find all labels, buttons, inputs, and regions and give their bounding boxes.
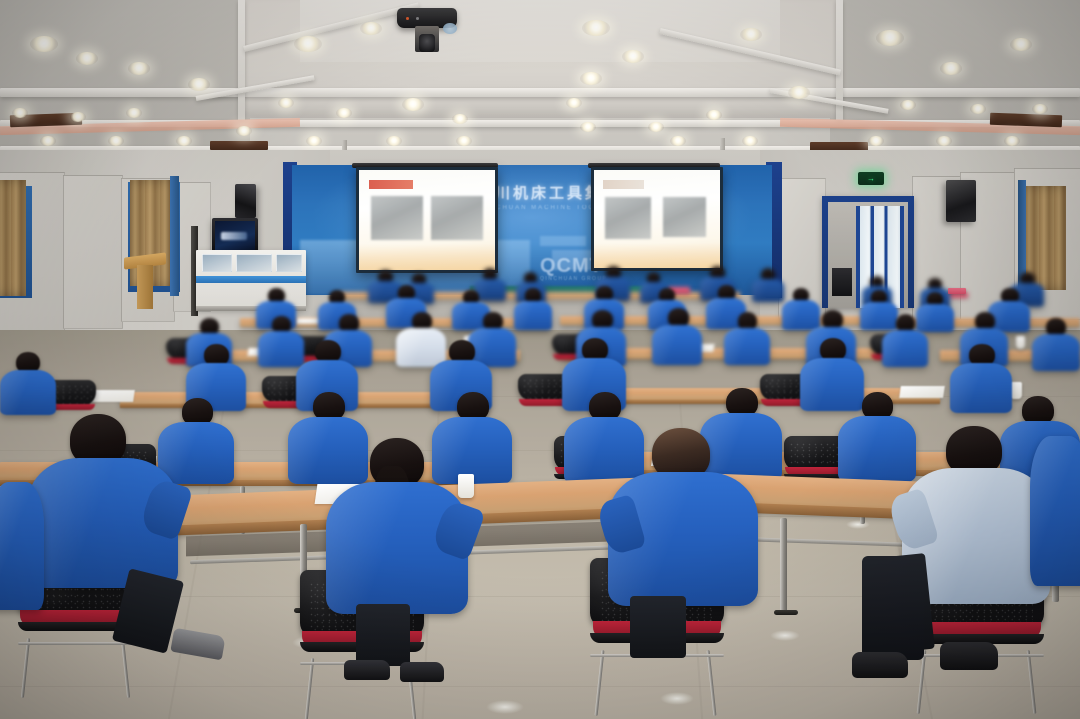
recessed-downlight [582, 20, 610, 36]
recessed-downlight [294, 36, 322, 52]
recessed-downlight [360, 22, 382, 35]
recessed-downlight [580, 122, 596, 132]
attendee-front-right-shirt [902, 426, 1050, 630]
attendee [0, 352, 56, 414]
recessed-downlight [868, 136, 884, 146]
recessed-downlight [936, 136, 952, 146]
slide-header-bar [603, 180, 645, 189]
ceiling-wood-panel [210, 141, 268, 150]
recessed-downlight [12, 108, 28, 118]
recessed-downlight [970, 104, 986, 114]
slide-photo [605, 197, 650, 238]
recessed-downlight [622, 50, 644, 63]
attendee-leg [862, 556, 924, 660]
slide-photo [431, 196, 483, 240]
slide-glow [359, 244, 495, 270]
window-frame [170, 176, 179, 296]
recessed-downlight [876, 30, 904, 46]
recessed-downlight [740, 28, 762, 41]
recessed-downlight [30, 36, 58, 52]
slide-glow [594, 243, 720, 268]
recessed-downlight [900, 100, 916, 110]
floor-tile-line [0, 686, 1080, 687]
recessed-downlight [706, 110, 722, 120]
recessed-downlight [670, 136, 686, 146]
recessed-downlight [402, 98, 424, 111]
ceiling-beam [0, 88, 1080, 97]
floor-reflection [770, 630, 800, 641]
recessed-downlight [788, 86, 810, 99]
desk-foot [774, 610, 798, 615]
recessed-downlight [306, 136, 322, 146]
wooden-lectern [128, 255, 162, 307]
attendee [724, 312, 770, 364]
recessed-downlight [386, 136, 402, 146]
recessed-downlight [580, 72, 602, 85]
left-projection-screen[interactable] [356, 167, 498, 273]
recessed-downlight [940, 62, 962, 75]
floor-reflection [660, 692, 694, 705]
recessed-downlight [742, 136, 758, 146]
attendee-front-center [608, 428, 758, 628]
wall-speaker-left-icon [235, 184, 256, 218]
corridor-object [832, 268, 852, 296]
recessed-downlight [70, 112, 86, 122]
wall-speaker-right-icon [946, 180, 976, 222]
recessed-downlight [40, 136, 56, 146]
ceiling-camera-icon [397, 8, 457, 48]
right-projection-screen[interactable] [591, 167, 723, 271]
attendee-edge-right [1030, 416, 1080, 586]
slide-photo [371, 196, 423, 240]
name-placard [948, 288, 966, 294]
screen-surface [359, 170, 495, 270]
recessed-downlight [176, 136, 192, 146]
recessed-downlight [648, 122, 664, 132]
acoustic-wall-panel [63, 175, 123, 329]
shoe [940, 642, 998, 670]
attendee [652, 308, 702, 364]
exit-sign-glyph: → [867, 175, 875, 183]
recessed-downlight [1004, 136, 1020, 146]
floor-reflection [486, 700, 524, 714]
recessed-downlight [126, 108, 142, 118]
conference-room-photo: 秦川机床工具集 QINCHUAN MACHINE TOOL QCMT QINCH… [0, 0, 1080, 719]
attendee-front-ponytail [326, 438, 468, 638]
ceiling-wood-panel [990, 113, 1062, 128]
recessed-downlight [278, 98, 294, 108]
recessed-downlight [336, 108, 352, 118]
attendee [752, 268, 784, 301]
recessed-downlight [452, 114, 468, 124]
desk-leg [780, 518, 787, 614]
slide-photo [663, 197, 706, 236]
shoe [852, 652, 908, 678]
recessed-downlight [566, 98, 582, 108]
recessed-downlight [76, 52, 98, 65]
screen-surface [594, 170, 720, 268]
exit-sign-icon: → [858, 172, 884, 185]
attendee [882, 314, 928, 366]
recessed-downlight [108, 136, 124, 146]
recessed-downlight [1032, 104, 1048, 114]
recessed-downlight [128, 62, 150, 75]
attendee-edge-left [0, 470, 44, 610]
floor-reflection [846, 520, 870, 529]
window-curtain [0, 180, 26, 296]
recessed-downlight [1010, 38, 1032, 51]
recessed-downlight [188, 78, 210, 91]
recessed-downlight [456, 136, 472, 146]
attendee-front-left [28, 414, 178, 614]
attendee [514, 288, 552, 330]
slide-header-bar [369, 180, 414, 189]
ceiling-beam [238, 0, 245, 120]
recessed-downlight [236, 126, 252, 136]
attendee [1032, 318, 1080, 370]
paper-cup [1016, 336, 1025, 349]
